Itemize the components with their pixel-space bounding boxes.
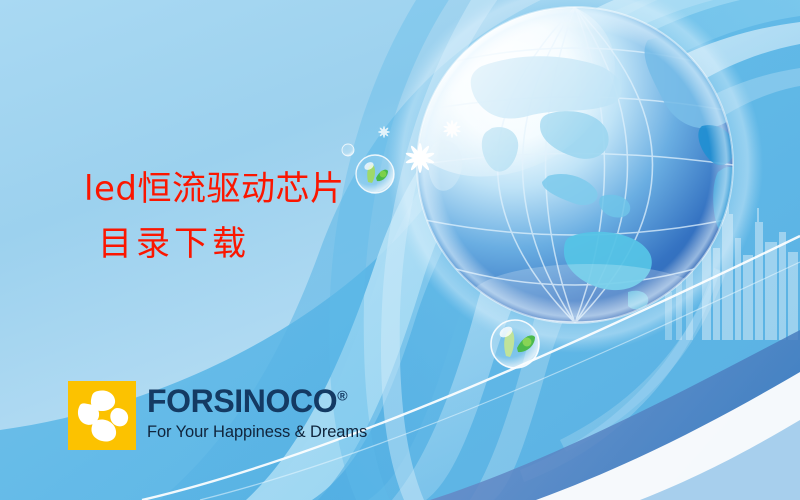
- banner-canvas: led恒流驱动芯片 目录下载 FORSINOCO® For Your Happi…: [0, 0, 800, 500]
- bubble-small: [342, 144, 354, 156]
- headline: led恒流驱动芯片 目录下载: [84, 162, 344, 272]
- logo-tagline: For Your Happiness & Dreams: [147, 424, 367, 441]
- brand-logo[interactable]: FORSINOCO® For Your Happiness & Dreams: [68, 381, 367, 450]
- bubble-with-sprout-upper: [356, 155, 394, 193]
- headline-line-1: led恒流驱动芯片: [84, 169, 344, 209]
- bubble-with-sprout-lower: [491, 320, 539, 368]
- logo-wordmark: FORSINOCO®: [147, 385, 367, 417]
- logo-wordmark-text: FORSINOCO: [147, 383, 337, 419]
- logo-text-block: FORSINOCO® For Your Happiness & Dreams: [147, 381, 367, 441]
- registered-trademark-icon: ®: [337, 387, 347, 403]
- pinwheel-flower-icon: [68, 381, 136, 450]
- headline-line-2: 目录下载: [84, 217, 344, 272]
